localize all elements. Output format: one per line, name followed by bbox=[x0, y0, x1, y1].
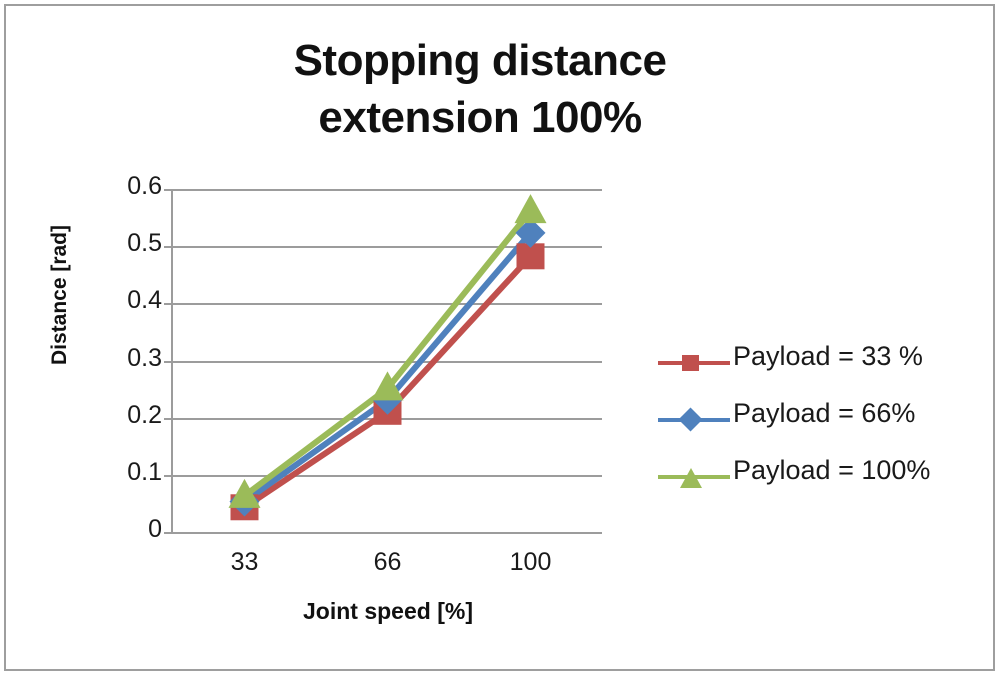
legend-item[interactable]: Payload = 100% bbox=[655, 450, 990, 507]
legend-item[interactable]: Payload = 66% bbox=[655, 393, 990, 450]
legend-label: Payload = 66% bbox=[733, 398, 915, 429]
y-axis-tick-label: 0.2 bbox=[92, 401, 162, 430]
y-axis-tick-labels: 0.60.50.40.30.20.10 bbox=[88, 190, 162, 533]
y-axis-tick-label: 0.4 bbox=[92, 286, 162, 315]
x-axis-title: Joint speed [%] bbox=[173, 598, 603, 625]
x-axis-tick-label: 66 bbox=[343, 548, 433, 577]
series-line bbox=[245, 211, 531, 496]
legend-marker bbox=[658, 464, 730, 490]
y-axis-tick-label: 0.5 bbox=[92, 229, 162, 258]
x-axis-tick-label: 33 bbox=[200, 548, 290, 577]
chart-legend: Payload = 33 %Payload = 66%Payload = 100… bbox=[655, 336, 990, 507]
diamond-marker-icon bbox=[678, 407, 702, 431]
chart-title: Stopping distance extension 100% bbox=[130, 32, 830, 146]
y-axis-tick bbox=[164, 418, 173, 420]
y-axis-title: Distance [rad] bbox=[48, 195, 72, 395]
chart-title-line-2: extension 100% bbox=[130, 89, 830, 146]
y-axis-tick bbox=[164, 303, 173, 305]
y-axis-tick bbox=[164, 475, 173, 477]
data-point-marker bbox=[515, 194, 547, 223]
y-axis-tick-label: 0.6 bbox=[92, 172, 162, 201]
y-axis-tick-label: 0.3 bbox=[92, 344, 162, 373]
y-axis-tick bbox=[164, 361, 173, 363]
legend-item[interactable]: Payload = 33 % bbox=[655, 336, 990, 393]
y-axis-tick-label: 0 bbox=[92, 515, 162, 544]
legend-label: Payload = 33 % bbox=[733, 341, 923, 372]
x-axis-tick-label: 100 bbox=[486, 548, 576, 577]
series-plot bbox=[173, 190, 602, 533]
y-axis-tick-label: 0.1 bbox=[92, 458, 162, 487]
y-axis-tick bbox=[164, 189, 173, 191]
legend-marker bbox=[658, 407, 730, 433]
y-axis-tick bbox=[164, 246, 173, 248]
chart-screenshot: Stopping distance extension 100% Distanc… bbox=[0, 0, 1000, 676]
plot-area bbox=[173, 190, 602, 533]
legend-label: Payload = 100% bbox=[733, 455, 930, 486]
chart-title-line-1: Stopping distance bbox=[130, 32, 830, 89]
square-marker-icon bbox=[682, 355, 699, 371]
legend-marker bbox=[658, 350, 730, 376]
y-axis-tick bbox=[164, 532, 173, 534]
triangle-marker-icon bbox=[680, 468, 702, 488]
